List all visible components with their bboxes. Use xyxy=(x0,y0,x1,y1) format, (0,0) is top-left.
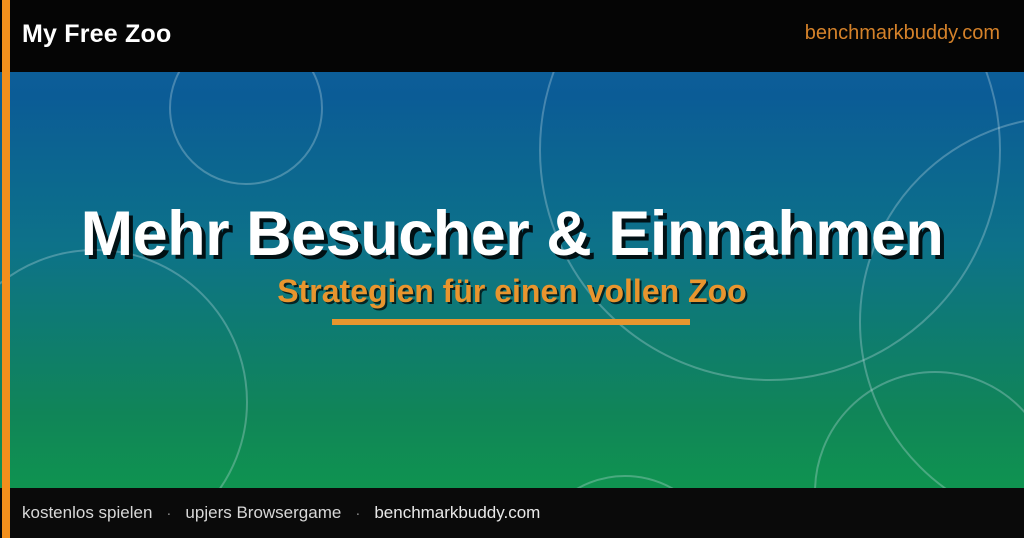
footer-item-site-url[interactable]: benchmarkbuddy.com xyxy=(374,503,540,523)
site-url-label[interactable]: benchmarkbuddy.com xyxy=(805,22,1000,45)
footer-links: kostenlos spielen · upjers Browsergame ·… xyxy=(22,488,540,538)
header-bar: My Free Zoo benchmarkbuddy.com xyxy=(0,0,1024,72)
deco-circle-top-left xyxy=(170,72,322,184)
deco-circle-top-center xyxy=(540,72,1000,380)
deco-circle-right-large xyxy=(860,117,1024,488)
footer-bar: kostenlos spielen · upjers Browsergame ·… xyxy=(0,488,1024,538)
deco-circle-bottom-center xyxy=(529,476,721,488)
footer-item-browsergame[interactable]: upjers Browsergame xyxy=(185,503,341,523)
footer-separator-2: · xyxy=(353,505,362,522)
hero-background xyxy=(0,72,1024,488)
brand-title: My Free Zoo xyxy=(22,20,171,49)
promo-banner: Mehr Besucher & Einnahmen Strategien für… xyxy=(0,0,1024,538)
left-accent-bar xyxy=(2,0,10,538)
footer-separator-1: · xyxy=(164,505,173,522)
deco-circle-bottom-right xyxy=(815,372,1024,488)
footer-item-play-free[interactable]: kostenlos spielen xyxy=(22,503,152,523)
decorative-circles xyxy=(0,72,1024,488)
deco-circle-left xyxy=(0,250,247,488)
